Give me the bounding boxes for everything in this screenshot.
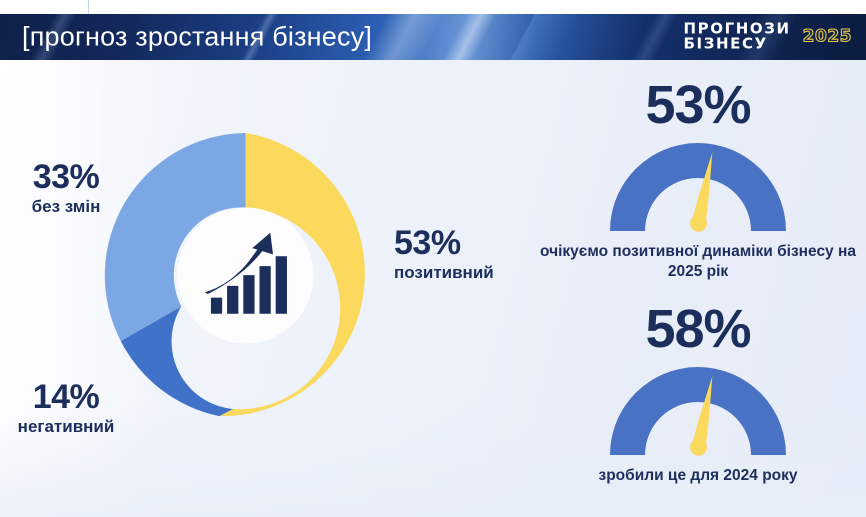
gauge-2024-caption: зробили це для 2024 року (530, 466, 866, 486)
logo-wordmark: ПРОГНОЗИ БІЗНЕСУ (683, 22, 790, 53)
gauge-2025-caption: очікуємо позитивної динаміки бізнесу на … (530, 242, 866, 282)
donut-label-positive-text: позитивний (394, 263, 544, 283)
banner-streak (493, 14, 636, 60)
page-title: [прогноз зростання бізнесу] (22, 22, 372, 53)
donut-label-nochange-text: без змін (4, 197, 128, 217)
donut-label-negative: 14% негативний (4, 380, 128, 437)
logo-year-badge: 2025 (803, 27, 852, 47)
banner-streak (613, 14, 690, 60)
infographic-page: [прогноз зростання бізнесу] ПРОГНОЗИ БІЗ… (0, 0, 866, 517)
donut-label-nochange-value: 33% (4, 160, 128, 194)
top-white-strip (0, 0, 866, 14)
top-divider-line (88, 0, 89, 14)
logo-line-2: БІЗНЕСУ (683, 37, 790, 52)
gauge-2025-value: 53% (530, 78, 866, 132)
gauge-2024: 58% зробили це для 2024 року (530, 302, 866, 486)
gauge-2024-value: 58% (530, 302, 866, 356)
gauge-2025: 53% очікуємо позитивної динаміки бізнесу… (530, 78, 866, 282)
brand-logo: ПРОГНОЗИ БІЗНЕСУ 2025 (683, 22, 852, 53)
donut-label-negative-value: 14% (4, 380, 128, 414)
gauge-2025-dial (530, 138, 866, 234)
donut-label-positive-value: 53% (394, 226, 544, 260)
banner-streak (425, 14, 508, 60)
donut-label-negative-text: негативний (4, 417, 128, 437)
gauge-2024-dial (530, 362, 866, 458)
growth-arrow-bars-icon (201, 231, 291, 321)
header-banner: [прогноз зростання бізнесу] ПРОГНОЗИ БІЗ… (0, 14, 866, 60)
donut-chart (103, 133, 388, 418)
growth-arrow-head (252, 232, 273, 254)
gauge-2024-svg (605, 362, 791, 458)
donut-label-positive: 53% позитивний (394, 226, 544, 283)
donut-label-nochange: 33% без змін (4, 160, 128, 217)
gauge-2025-svg (605, 138, 791, 234)
